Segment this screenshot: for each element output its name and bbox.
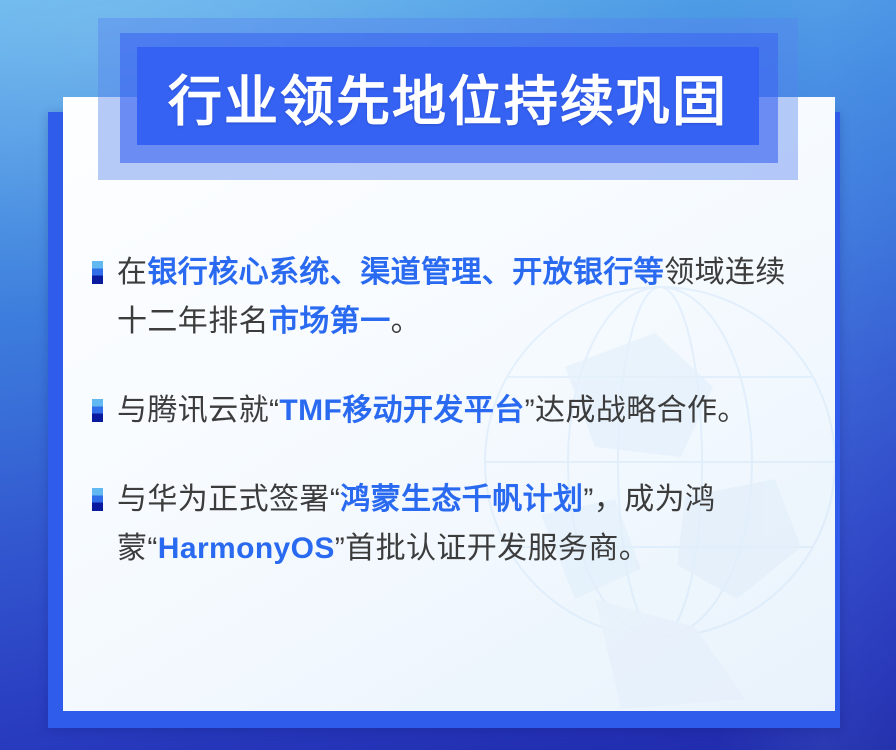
bullet-marker-icon xyxy=(92,261,103,284)
bullet-text-huawei-harmonyos: 与华为正式签署“鸿蒙生态千帆计划”，成为鸿蒙“HarmonyOS”首批认证开发服… xyxy=(117,475,808,573)
list-item: 与华为正式签署“鸿蒙生态千帆计划”，成为鸿蒙“HarmonyOS”首批认证开发服… xyxy=(92,475,808,573)
list-item: 在银行核心系统、渠道管理、开放银行等领域连续十二年排名市场第一。 xyxy=(92,248,808,346)
bullet-list: 在银行核心系统、渠道管理、开放银行等领域连续十二年排名市场第一。 与腾讯云就“T… xyxy=(92,248,808,573)
slide-root: 行业领先地位持续巩固 在银行核心系统、渠道管理、开放银行等领域连续十二年排名市场… xyxy=(0,0,896,750)
page-title: 行业领先地位持续巩固 xyxy=(137,47,759,145)
bullet-text-market-leadership: 在银行核心系统、渠道管理、开放银行等领域连续十二年排名市场第一。 xyxy=(117,248,808,346)
bullet-marker-icon xyxy=(92,488,103,511)
list-item: 与腾讯云就“TMF移动开发平台”达成战略合作。 xyxy=(92,386,808,435)
bullet-text-tencent-cloud: 与腾讯云就“TMF移动开发平台”达成战略合作。 xyxy=(117,386,808,435)
bullet-marker-icon xyxy=(92,399,103,422)
